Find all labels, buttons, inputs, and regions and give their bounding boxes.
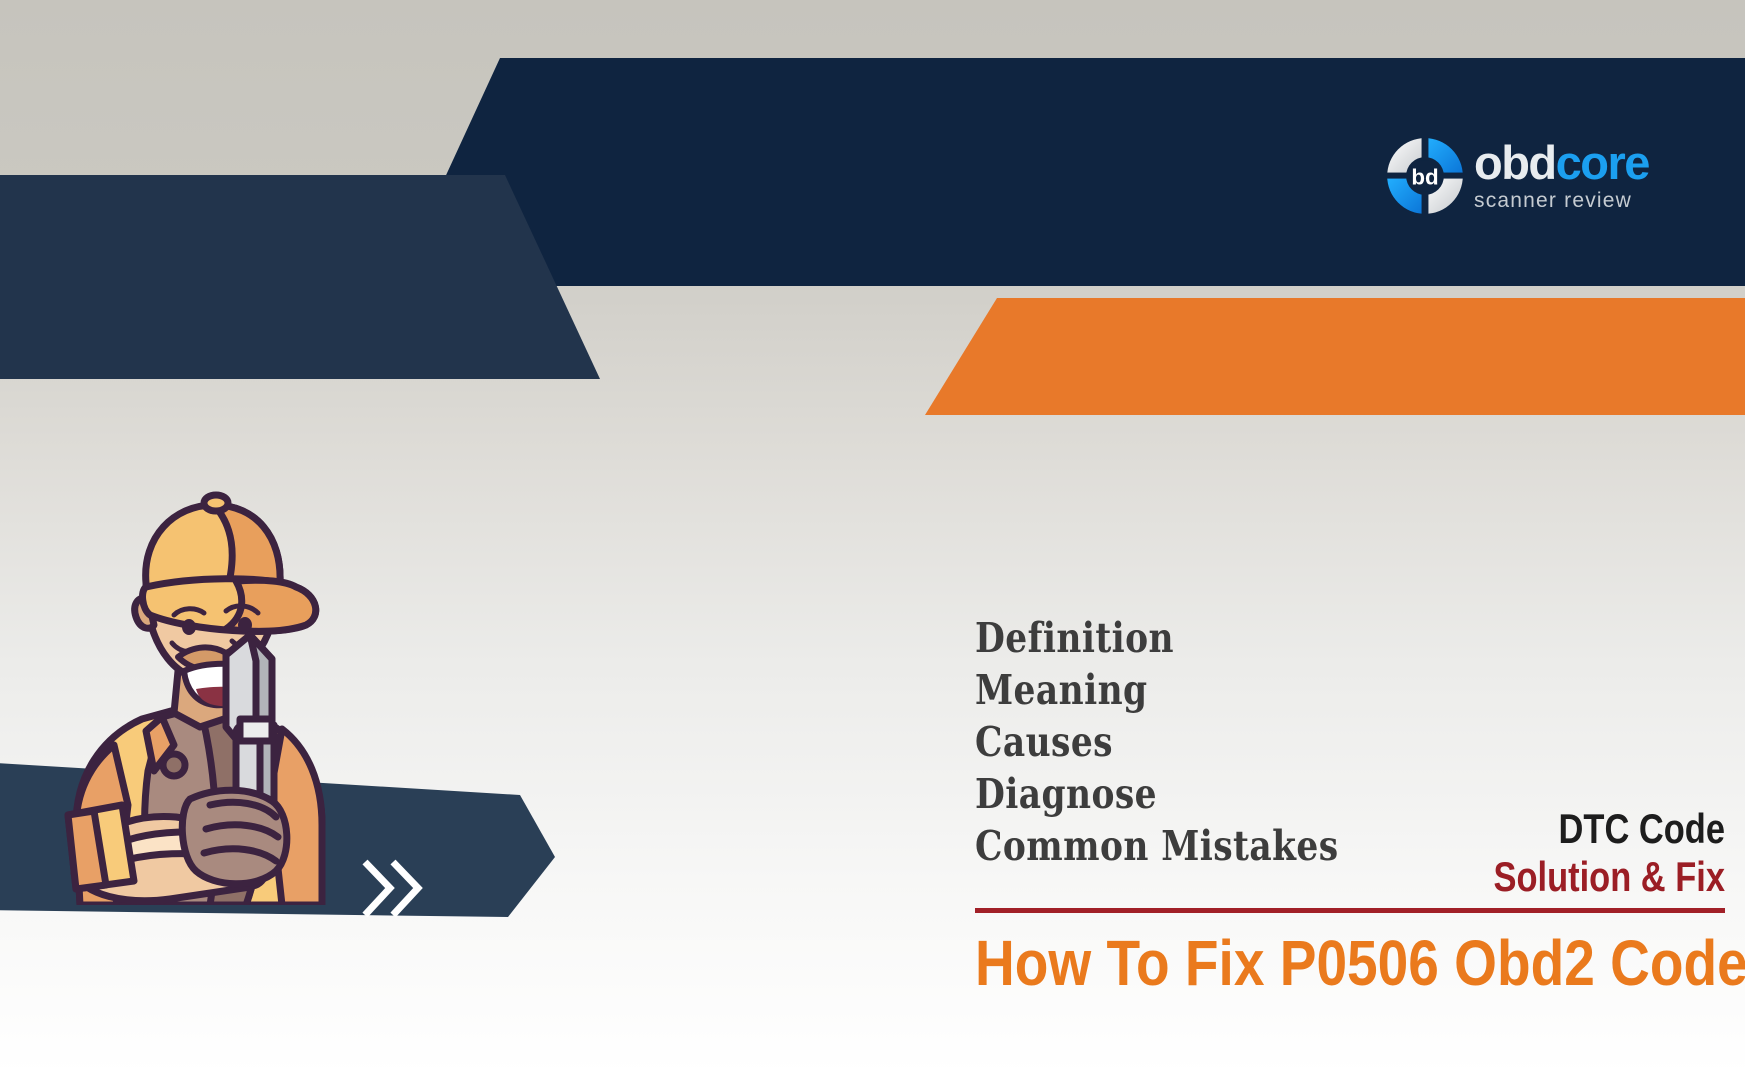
dtc-code-label: DTC Code: [1085, 806, 1725, 852]
topic-item: Meaning: [975, 664, 1445, 716]
brand-logo[interactable]: bd obdcore scanner review: [1382, 128, 1682, 224]
poster-canvas: bd obdcore scanner review: [0, 0, 1745, 1074]
orange-accent-band: [925, 298, 1745, 415]
navy-left-band: [0, 175, 600, 379]
logo-wordmark-obd: obd: [1474, 136, 1556, 189]
eyebrow-block: DTC Code Solution & Fix: [945, 806, 1725, 902]
red-divider: [975, 908, 1725, 913]
topic-item: Causes: [975, 716, 1445, 768]
logo-wordmark-core: core: [1556, 136, 1649, 189]
logo-wordmark: obdcore: [1474, 139, 1649, 186]
page-title: How To Fix P0506 Obd2 Code: [975, 925, 1629, 1001]
logo-tagline: scanner review: [1474, 190, 1649, 211]
solution-fix-label: Solution & Fix: [1085, 852, 1725, 902]
mechanic-illustration: [50, 475, 360, 905]
logo-text-group: obdcore scanner review: [1474, 139, 1649, 213]
topic-item: Definition: [975, 612, 1445, 664]
obdcore-ring-icon: bd: [1382, 133, 1468, 219]
logo-initials: bd: [1411, 165, 1438, 190]
